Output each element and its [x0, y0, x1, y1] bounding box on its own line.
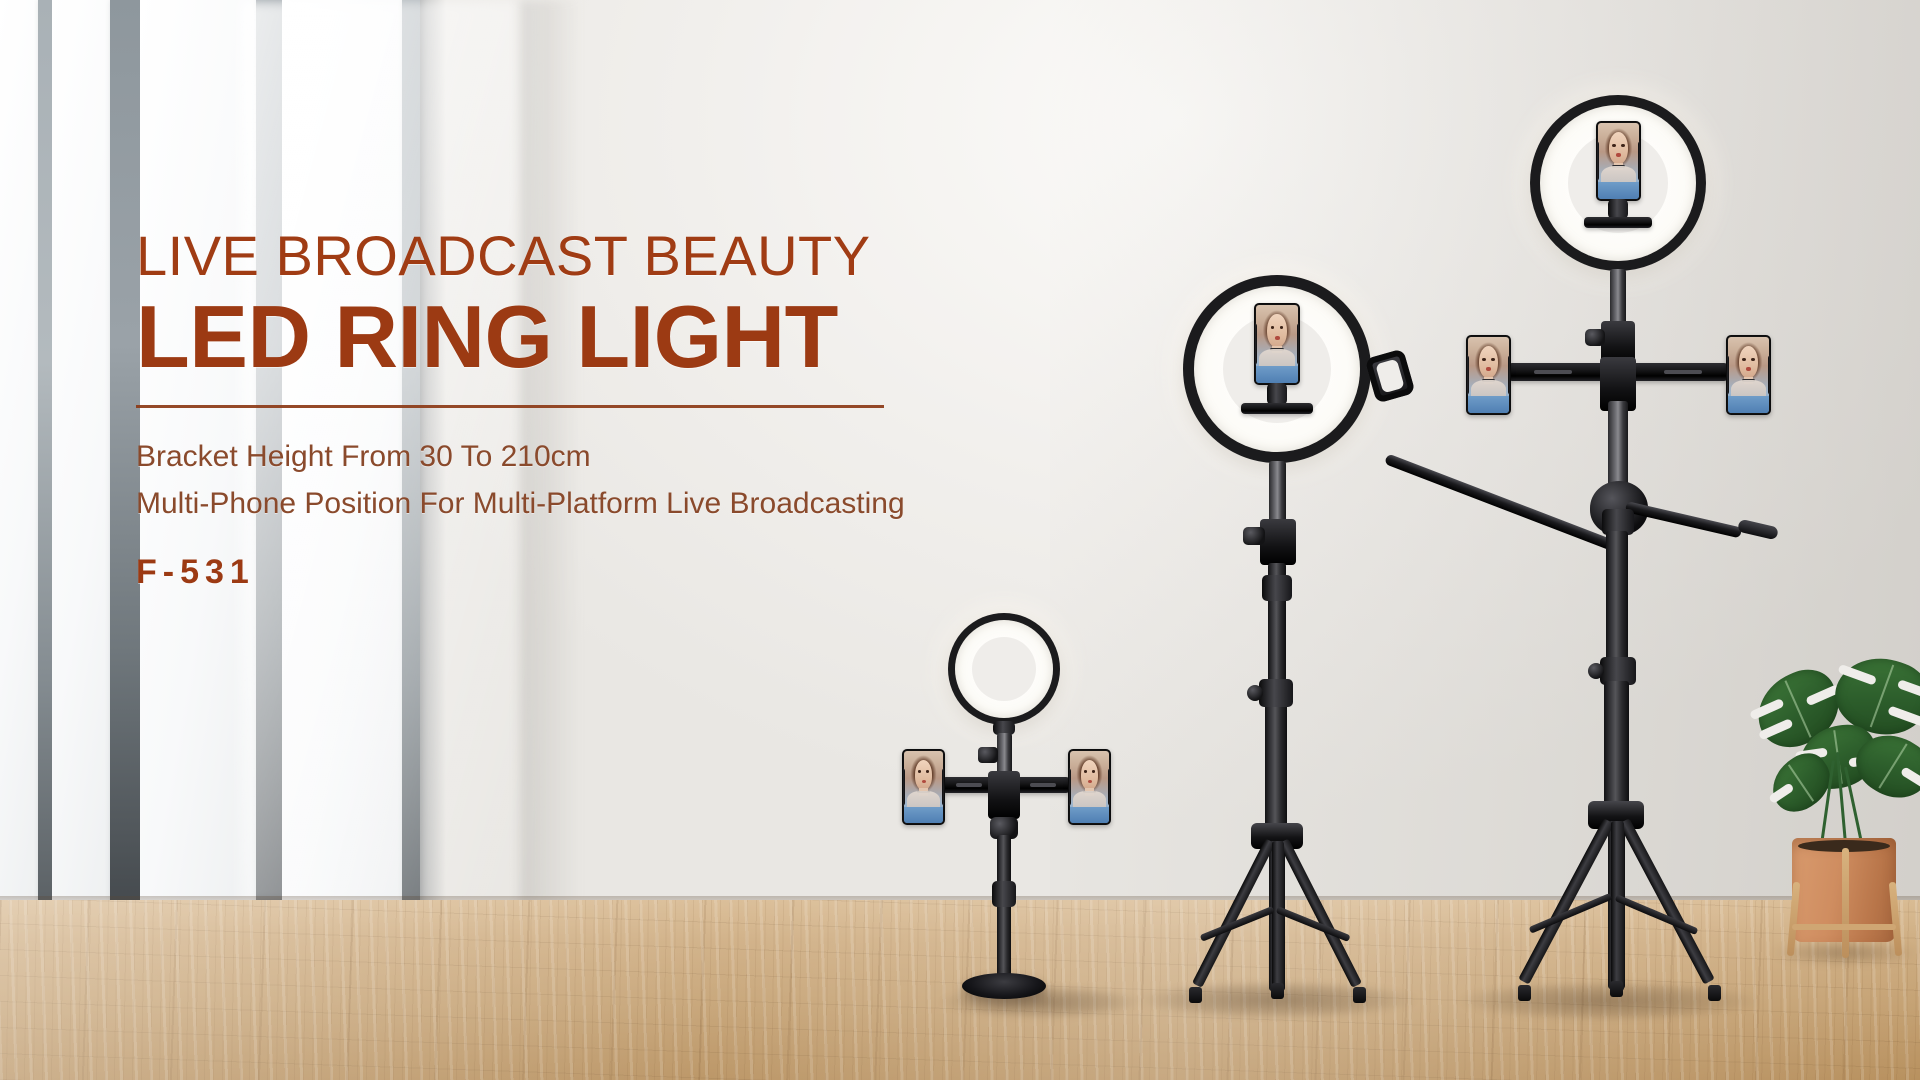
model-face — [1081, 760, 1099, 790]
tripod-multi-phone-right — [1726, 335, 1771, 415]
leaf-notch — [1768, 782, 1795, 804]
leaf-notch — [1749, 698, 1785, 721]
tripod-multi-center-clamp-bar — [1584, 217, 1652, 228]
model-dress — [1070, 807, 1109, 823]
desk-stand-phone-right-screen — [1070, 751, 1109, 823]
plant-stand-leg-center — [1842, 848, 1849, 958]
tripod-multi-ring-stem — [1610, 269, 1626, 327]
model-face — [1479, 346, 1498, 378]
model-lips — [1616, 153, 1621, 156]
tripod-multi-phone-left-grip-left — [1466, 355, 1469, 396]
model-face — [1609, 132, 1628, 164]
desk-stand-center-hub — [988, 771, 1020, 819]
window-mullion-1 — [38, 0, 52, 905]
model-dress — [1728, 396, 1769, 413]
desk-stand-phone-left-screen — [904, 751, 943, 823]
tripod-single-lock-knob — [1247, 685, 1263, 701]
desk-stand-phone-right — [1068, 749, 1111, 825]
model-eye-right — [1751, 358, 1755, 361]
desk-stand-phone-left-grip-right — [942, 768, 945, 806]
leaf-notch — [1758, 718, 1794, 741]
model-eye-left — [1612, 144, 1616, 147]
banner-canvas: LIVE BROADCAST BEAUTY LED RING LIGHT Bra… — [0, 0, 1920, 1080]
window-glass-pane-1 — [0, 0, 38, 905]
model-lips — [1088, 780, 1092, 783]
model-dress — [1256, 366, 1298, 383]
tripod-multi-foot-right — [1708, 985, 1721, 1001]
tripod-multi-phone-left-screen — [1468, 337, 1509, 413]
tripod-multi-phone-left — [1466, 335, 1511, 415]
model-dress — [904, 807, 943, 823]
headline-block: LIVE BROADCAST BEAUTY LED RING LIGHT Bra… — [136, 228, 1136, 592]
tripod-single-phone-arm — [1267, 383, 1287, 405]
model-face — [915, 760, 933, 790]
leaf-notch — [1837, 664, 1876, 686]
model-lips — [1275, 336, 1280, 340]
desk-stand-lower-pole — [997, 835, 1011, 983]
page-title: LED RING LIGHT — [136, 290, 1136, 383]
tripod-single-swivel-knob — [1243, 527, 1265, 545]
model-face — [1267, 314, 1286, 347]
subtitle-line-2: Multi-Phone Position For Multi-Platform … — [136, 481, 1136, 528]
tripod-single-foot-left — [1189, 987, 1202, 1003]
tripod-multi-phone-center — [1596, 121, 1641, 201]
leaf-notch — [1900, 766, 1920, 790]
tripod-multi-foot-left — [1518, 985, 1531, 1001]
model-eye-left — [1742, 358, 1746, 361]
tripod-single-clamp-bar — [1241, 403, 1313, 414]
desk-stand-ring-light — [948, 613, 1060, 725]
tripod-single-phone-center — [1254, 303, 1300, 385]
model-lips — [922, 780, 926, 783]
leaf-notch — [1897, 679, 1920, 701]
model-number: F-531 — [136, 553, 1136, 592]
tripod-multi-phone-right-screen — [1728, 337, 1769, 413]
tripod-multi-crossbar-slot-left — [1534, 370, 1572, 374]
tripod-multi-phone-center-screen — [1598, 123, 1639, 199]
leaf-vein — [1788, 764, 1814, 802]
tripod-multi-center-phone-arm — [1608, 199, 1628, 219]
tripod-multi-phone-right-grip-right — [1768, 355, 1771, 396]
model-eye-right — [1491, 358, 1495, 361]
tripod-multi-phone-right-grip-left — [1726, 355, 1729, 396]
divider-rule — [136, 405, 884, 408]
tripod-single-swivel-head — [1260, 519, 1296, 565]
window-glass-pane-2 — [52, 0, 110, 905]
subtitle-line-1: Bracket Height From 30 To 210cm — [136, 440, 591, 473]
plant-stand-rail — [1792, 924, 1896, 930]
leaf-notch — [1888, 706, 1920, 728]
desk-stand-crossbar-slot-left — [956, 783, 982, 787]
tripod-single-leg-center — [1272, 841, 1284, 993]
desk-stand-round-base — [962, 973, 1046, 999]
tripod-multi-leg-center — [1611, 821, 1624, 991]
desk-stand-ring-hole — [972, 637, 1036, 701]
tripod-single-foot-right — [1353, 987, 1366, 1003]
tripod-single-phone-grip-right — [1297, 323, 1300, 365]
model-lips — [1746, 367, 1751, 370]
tripod-single-phone-grip-left — [1254, 323, 1257, 365]
tripod-multi-phone-left-grip-right — [1508, 355, 1511, 396]
model-dress — [1598, 182, 1639, 199]
leaf-vein — [1785, 680, 1812, 737]
boom-arm-counterweight — [1737, 519, 1779, 541]
tripod-single-foot-center — [1271, 983, 1284, 999]
desk-stand-tilt-knob — [978, 747, 998, 763]
desk-stand-phone-left — [902, 749, 945, 825]
desk-stand-phone-right-grip-left — [1068, 768, 1071, 806]
tripod-single-collar-1 — [1262, 575, 1292, 601]
tripod-multi-mid-column — [1606, 531, 1628, 667]
tripod-single-phone-screen — [1256, 305, 1298, 383]
kicker-text: LIVE BROADCAST BEAUTY — [136, 228, 1136, 284]
model-face — [1739, 346, 1758, 378]
tripod-multi-brace-right — [1615, 894, 1699, 935]
leaf-vein — [1870, 664, 1895, 728]
leaf-vein — [1878, 743, 1908, 789]
model-eye-right — [1621, 144, 1625, 147]
desk-stand-crossbar-slot-right — [1030, 783, 1056, 787]
desk-stand-phone-left-grip-left — [902, 768, 905, 806]
subtitle-block: Bracket Height From 30 To 210cm Multi-Ph… — [136, 434, 1136, 527]
model-eye-left — [1482, 358, 1486, 361]
model-dress — [1468, 396, 1509, 413]
tripod-single-upper-pole — [1269, 461, 1286, 527]
tripod-multi-foot-center — [1610, 981, 1623, 997]
tripod-multi-lower-column — [1604, 681, 1629, 811]
tripod-multi-crossbar-slot-right — [1664, 370, 1702, 374]
microphone-clip-opening — [1375, 359, 1404, 394]
tripod-single-collar-2 — [1259, 679, 1293, 707]
model-lips — [1486, 367, 1491, 370]
monstera-plant — [1748, 640, 1920, 970]
desk-stand-phone-right-grip-right — [1108, 768, 1111, 806]
desk-stand-height-collar — [992, 881, 1016, 907]
tripod-multi-phone-center-grip-left — [1596, 141, 1599, 182]
tripod-multi-swivel-knob — [1585, 329, 1605, 346]
tripod-multi-lock-knob — [1588, 663, 1604, 679]
tripod-multi-phone-center-grip-right — [1638, 141, 1641, 182]
